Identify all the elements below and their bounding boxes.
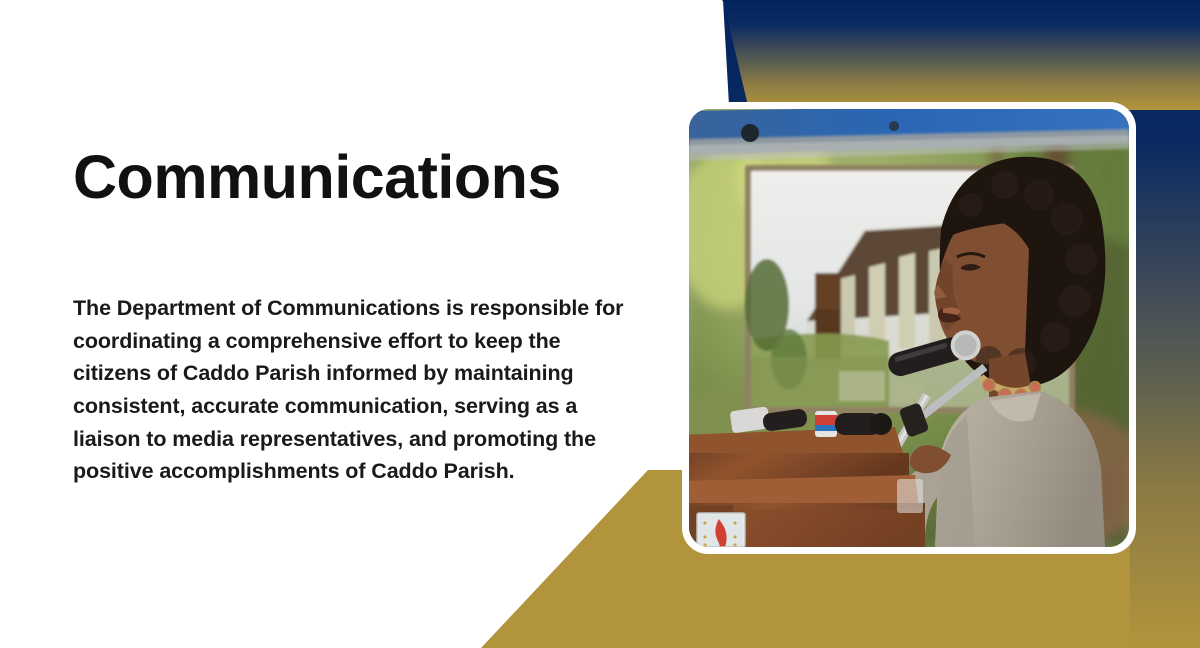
photo-frame <box>689 109 1129 547</box>
top-navy-strip <box>723 0 1200 110</box>
podium-speaker-photo <box>689 109 1129 547</box>
page-title: Communications <box>73 145 561 209</box>
slide-canvas: Communications The Department of Communi… <box>0 0 1200 648</box>
photo-card <box>682 102 1136 554</box>
text-column: Communications The Department of Communi… <box>73 0 633 648</box>
body-paragraph: The Department of Communications is resp… <box>73 292 625 488</box>
